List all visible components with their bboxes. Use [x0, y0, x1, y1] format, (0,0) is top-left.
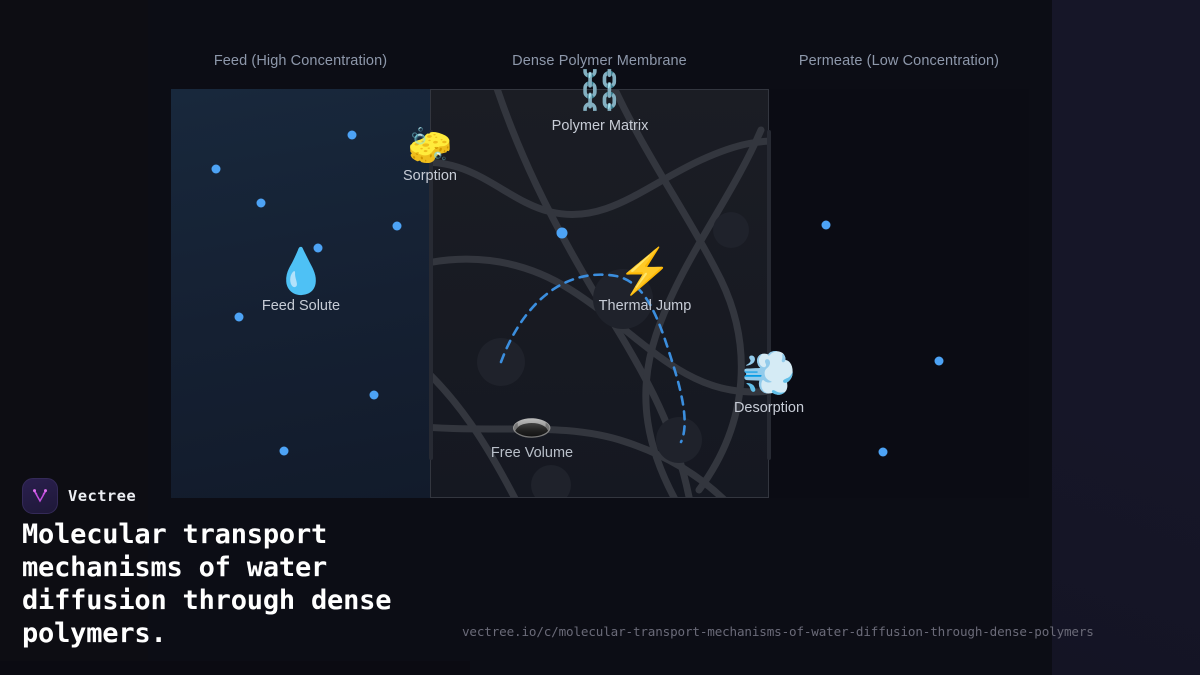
- column-caption-feed: Feed (High Concentration): [171, 53, 430, 69]
- node-label-sorption: Sorption: [330, 168, 530, 184]
- column-caption-permeate: Permeate (Low Concentration): [769, 53, 1029, 69]
- feed-particle: [212, 165, 221, 174]
- background-right-shade: [1052, 0, 1200, 675]
- node-sorption: 🧽 Sorption: [330, 126, 530, 184]
- permeate-particle: [822, 221, 831, 230]
- node-label-thermal-jump: Thermal Jump: [545, 298, 745, 314]
- node-label-polymer-matrix: Polymer Matrix: [500, 118, 700, 134]
- feed-particle: [257, 199, 266, 208]
- brand-name: Vectree: [68, 487, 136, 505]
- node-label-desorption: Desorption: [669, 400, 869, 416]
- node-thermal-jump: ⚡ Thermal Jump: [545, 248, 745, 314]
- node-desorption: 💨 Desorption: [669, 350, 869, 416]
- hole-icon: 🕳️: [432, 403, 632, 443]
- column-caption-membrane: Dense Polymer Membrane: [430, 53, 769, 69]
- node-feed-solute: 💧 Feed Solute: [201, 248, 401, 314]
- node-label-free-volume: Free Volume: [432, 445, 632, 461]
- brand-block: [0, 661, 470, 675]
- node-label-feed-solute: Feed Solute: [201, 298, 401, 314]
- node-free-volume: 🕳️ Free Volume: [432, 403, 632, 461]
- feed-particle: [393, 222, 402, 231]
- feed-particle: [370, 391, 379, 400]
- brand-row: Vectree: [22, 478, 136, 514]
- permeate-region-panel: [769, 89, 1029, 498]
- chain-links-icon: ⛓️: [500, 70, 700, 112]
- source-url: vectree.io/c/molecular-transport-mechani…: [462, 624, 1094, 639]
- feed-particle: [280, 447, 289, 456]
- permeate-particle: [935, 357, 944, 366]
- permeate-particle: [879, 448, 888, 457]
- infographic-canvas: Feed (High Concentration) Dense Polymer …: [0, 0, 1200, 675]
- lightning-bolt-icon: ⚡: [545, 248, 745, 296]
- water-droplet-icon: 💧: [201, 248, 401, 296]
- dashing-away-wind-icon: 💨: [669, 350, 869, 398]
- membrane-particle: [557, 228, 568, 239]
- page-title: Molecular transport mechanisms of water …: [22, 518, 462, 650]
- node-polymer-matrix: ⛓️ Polymer Matrix: [500, 70, 700, 134]
- vectree-v-logo-icon: [22, 478, 58, 514]
